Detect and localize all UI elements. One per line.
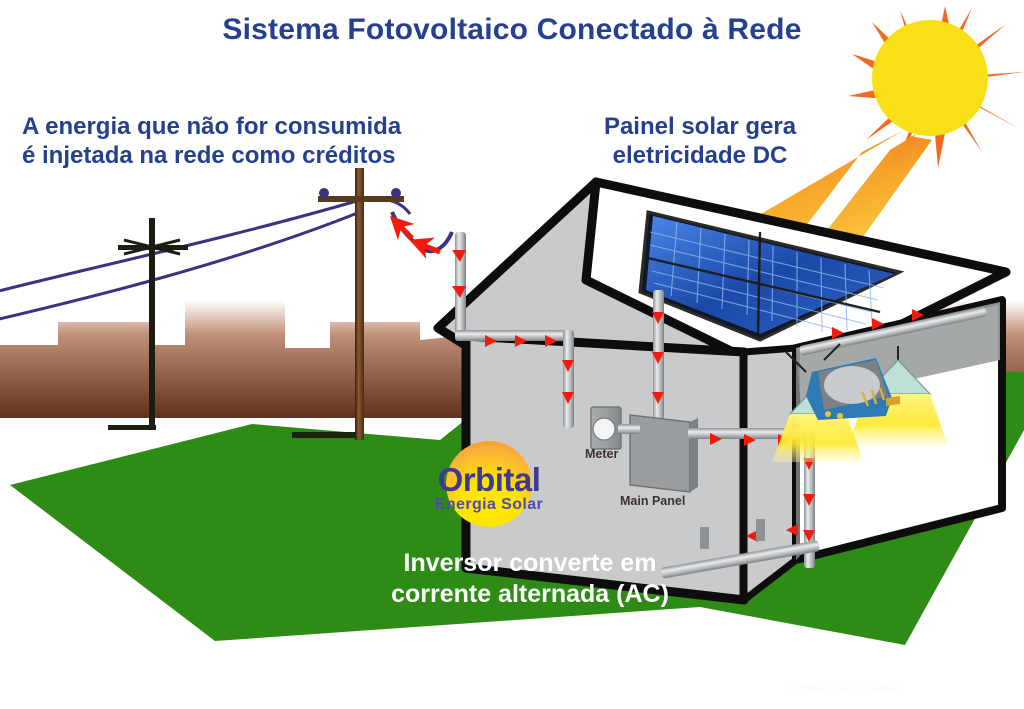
logo-tagline: Energia Solar	[404, 496, 574, 514]
main-panel-box	[630, 415, 698, 492]
caption-solar-dc: Painel solar gera eletricidade DC	[560, 112, 840, 171]
illustration-root: Orbital Energia Solar Sistema Fotovoltai…	[0, 0, 1024, 709]
diagram-title: Sistema Fotovoltaico Conectado à Rede	[0, 12, 1024, 49]
label-main-panel: Main Panel	[620, 494, 685, 508]
caption-inverter-ac: Inversor converte em corrente alternada …	[345, 548, 715, 609]
logo-wordmark: Orbital	[404, 461, 574, 499]
label-meter: Meter	[585, 447, 618, 461]
watermark-text: Orbital Energia Solar	[790, 683, 899, 695]
conduit-run-panel-to-inverter	[652, 290, 664, 430]
caption-grid-credits: A energia que não for consumida é injeta…	[22, 112, 492, 171]
electric-meter	[591, 407, 621, 449]
orbital-logo: Orbital Energia Solar	[404, 441, 574, 527]
service-drop-wire	[392, 212, 452, 252]
